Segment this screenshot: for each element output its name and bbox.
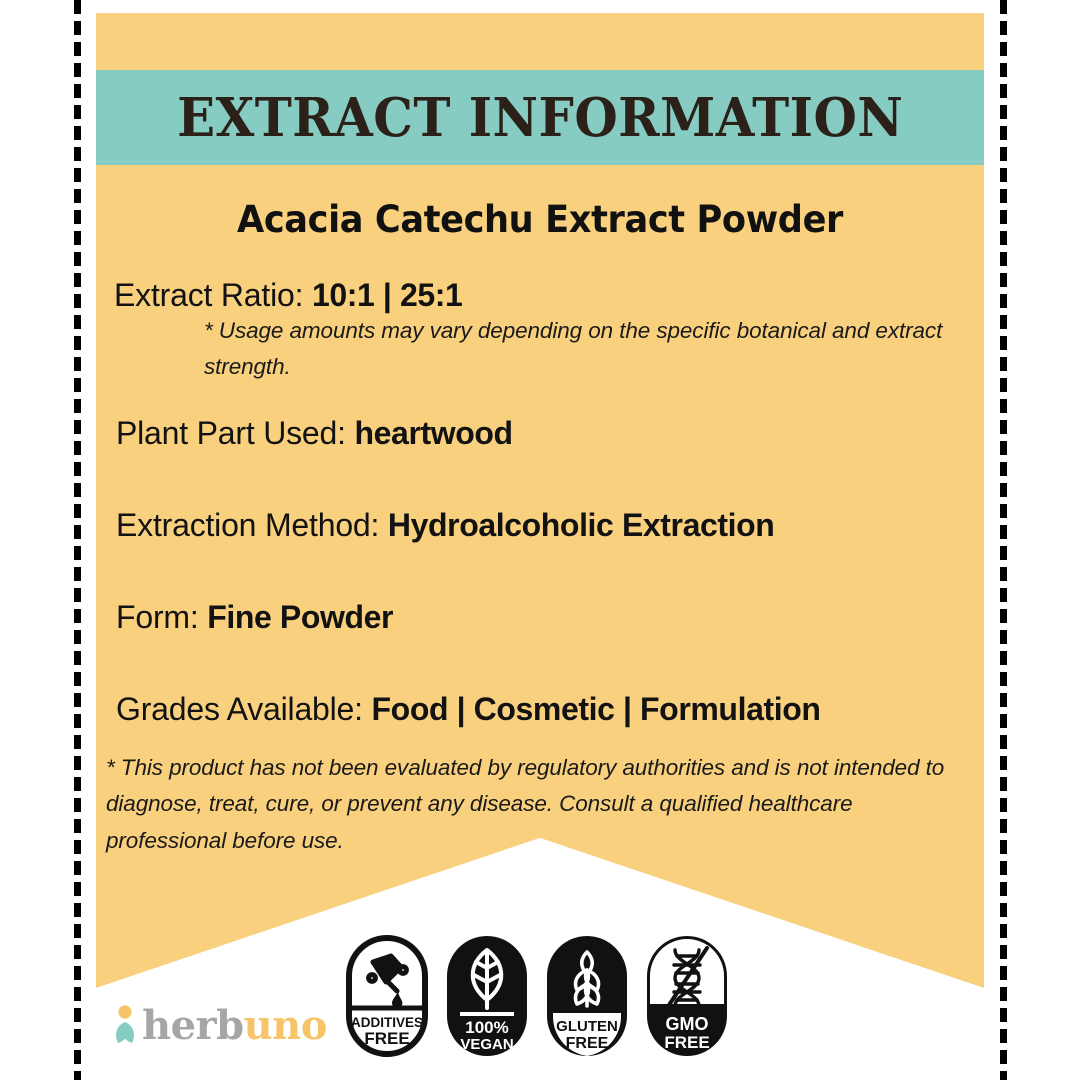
spec-value: heartwood <box>355 415 513 451</box>
header-banner: EXTRACT INFORMATION <box>96 70 984 165</box>
page-title: EXTRACT INFORMATION <box>177 87 903 149</box>
brand-logo: herbuno <box>110 1002 327 1050</box>
spec-label: Grades Available: <box>116 691 372 727</box>
badge-line2: VEGAN <box>460 1036 513 1053</box>
sprout-leaf-icon <box>110 1004 140 1048</box>
spec-label: Plant Part Used: <box>116 415 355 451</box>
extract-information-card: EXTRACT INFORMATION Acacia Catechu Extra… <box>0 0 1080 1080</box>
spec-extraction-method: Extraction Method: Hydroalcoholic Extrac… <box>116 507 774 544</box>
spec-label: Form: <box>116 599 207 635</box>
spec-value: Food | Cosmetic | Formulation <box>372 691 821 727</box>
spec-grades-available: Grades Available: Food | Cosmetic | Form… <box>116 691 821 728</box>
logo-text-herb: herb <box>142 1002 244 1049</box>
spec-extract-ratio: Extract Ratio: 10:1 | 25:1 <box>114 277 462 314</box>
spec-label: Extraction Method: <box>116 507 388 543</box>
certification-badges: ADDITIVES FREE 100% VEGAN <box>345 932 745 1060</box>
spec-value: Fine Powder <box>207 599 393 635</box>
badge-line2: FREE <box>664 1033 709 1052</box>
badge-gmo-free: GMO FREE <box>645 934 729 1058</box>
badge-gluten-free: GLUTEN FREE <box>545 934 629 1058</box>
spec-form: Form: Fine Powder <box>116 599 393 636</box>
legal-disclaimer-note: * This product has not been evaluated by… <box>106 750 966 859</box>
usage-note: * Usage amounts may vary depending on th… <box>204 313 1032 386</box>
content-area: Acacia Catechu Extract Powder Extract Ra… <box>96 165 984 241</box>
badge-line2: FREE <box>364 1029 409 1048</box>
badge-line1: GLUTEN <box>556 1018 618 1035</box>
logo-wordmark: herbuno <box>142 1006 327 1046</box>
spec-value: Hydroalcoholic Extraction <box>388 507 775 543</box>
badge-line1: 100% <box>465 1018 508 1037</box>
spec-plant-part-used: Plant Part Used: heartwood <box>116 415 513 452</box>
badge-additives-free: ADDITIVES FREE <box>345 934 429 1058</box>
badge-line2: FREE <box>566 1035 609 1052</box>
dashed-border-left <box>74 0 81 1080</box>
logo-text-uno: uno <box>244 1002 327 1049</box>
badge-line1: GMO <box>666 1014 709 1034</box>
badge-line1: ADDITIVES <box>351 1015 423 1030</box>
badge-vegan: 100% VEGAN <box>445 934 529 1058</box>
logo-dot <box>118 1005 131 1018</box>
dashed-border-right <box>1000 0 1007 1080</box>
product-title: Acacia Catechu Extract Powder <box>118 198 962 241</box>
spec-value: 10:1 | 25:1 <box>312 277 462 313</box>
spec-label: Extract Ratio: <box>114 277 312 313</box>
